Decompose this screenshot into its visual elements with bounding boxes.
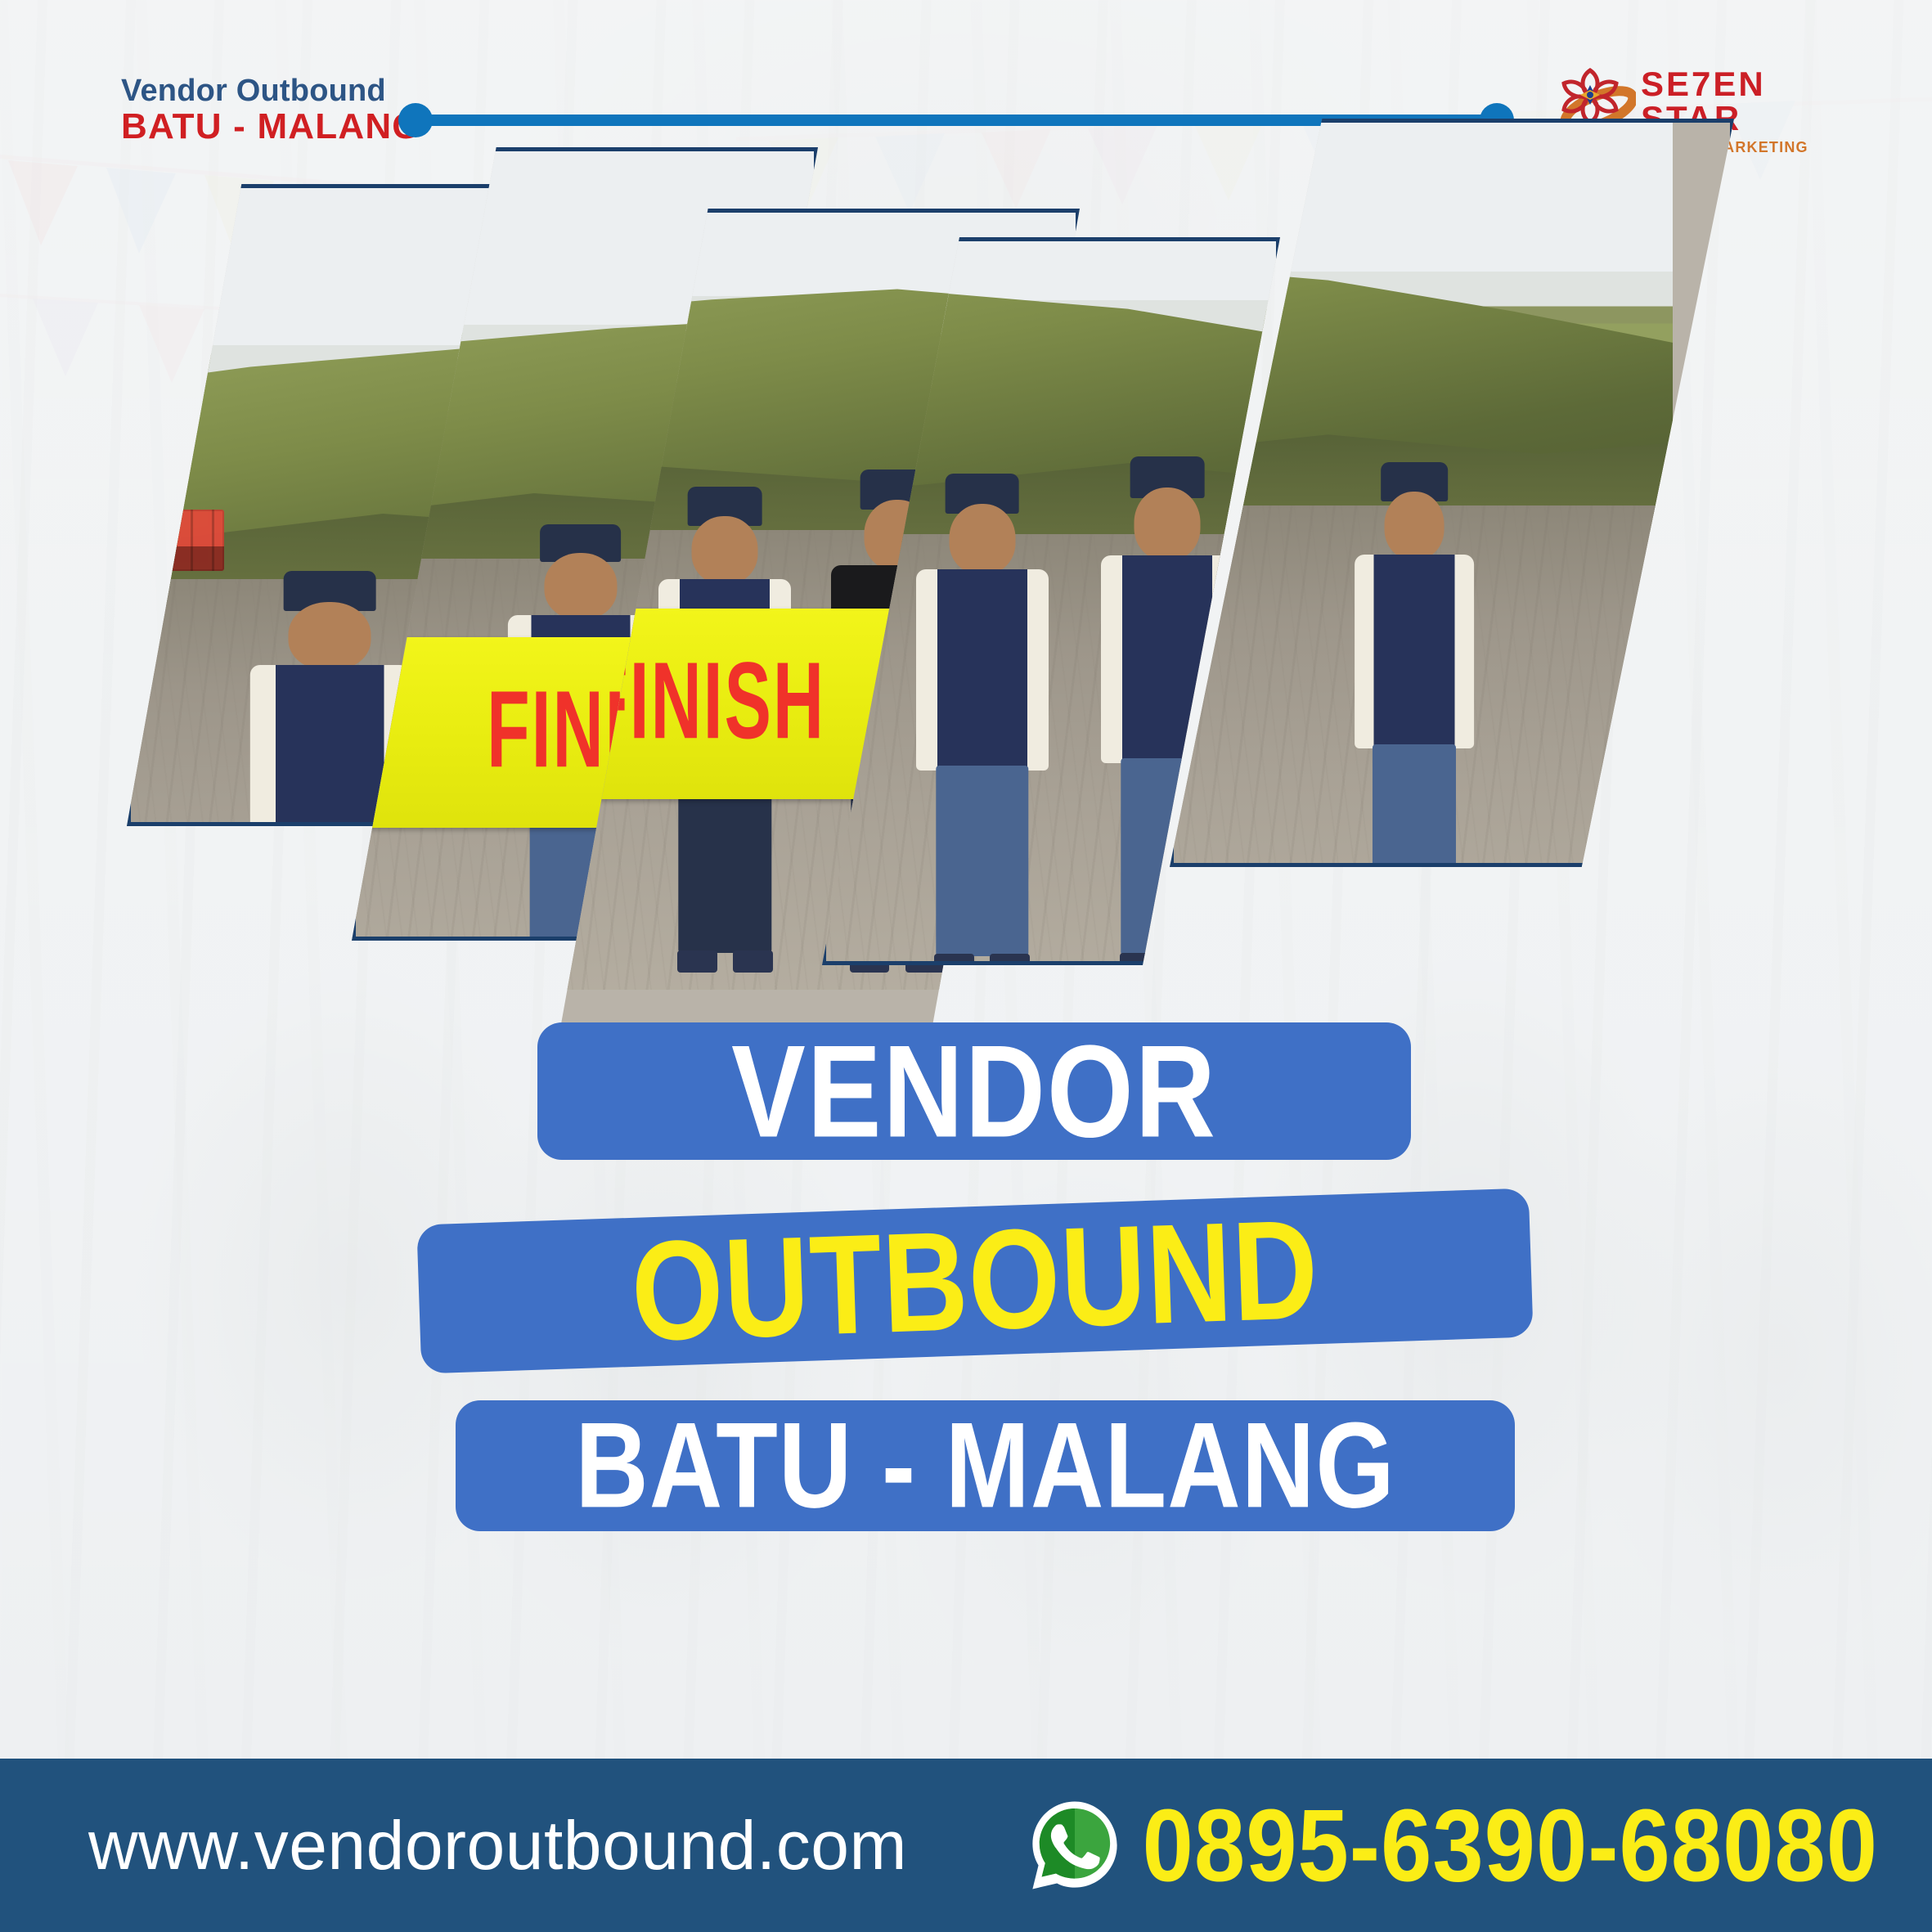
- title-panel-batu-malang: BATU - MALANG: [456, 1400, 1515, 1531]
- website-url[interactable]: www.vendoroutbound.com: [88, 1806, 907, 1885]
- contact-footer-bar: www.vendoroutbound.com 0895-6390-68080: [0, 1759, 1932, 1932]
- title-text-outbound: OUTBOUND: [629, 1188, 1321, 1374]
- phone-number[interactable]: 0895-6390-68080: [1143, 1786, 1878, 1904]
- brand-line-2: BATU - MALANG: [121, 108, 421, 146]
- whatsapp-contact[interactable]: 0895-6390-68080: [1027, 1793, 1932, 1898]
- photo-collage: FINISH FINISH: [0, 147, 1932, 990]
- header-divider-dot-left: [398, 103, 433, 137]
- whatsapp-icon[interactable]: [1027, 1797, 1123, 1894]
- title-text-vendor: VENDOR: [731, 1016, 1217, 1166]
- title-text-batu-malang: BATU - MALANG: [575, 1396, 1395, 1535]
- collage-photo-5: [1170, 119, 1734, 867]
- brand-lockup: Vendor Outbound BATU - MALANG: [121, 75, 421, 145]
- brand-line-1: Vendor Outbound: [121, 75, 421, 108]
- title-panel-vendor: VENDOR: [537, 1022, 1411, 1160]
